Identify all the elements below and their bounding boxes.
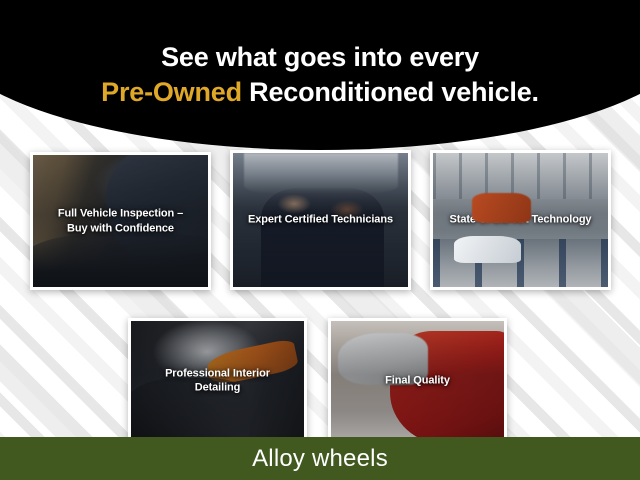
card-professional-interior-detailing[interactable]: Professional Interior Detailing	[128, 318, 307, 443]
card-final-quality[interactable]: Final Quality	[328, 318, 507, 443]
caption-line-1: Expert Certified Technicians	[238, 213, 403, 228]
headline-highlight-pre-owned: Pre-Owned	[101, 77, 242, 107]
headline-line-2: Pre-Owned Reconditioned vehicle.	[101, 77, 539, 108]
caption-line-2: Buy with Confidence	[38, 221, 203, 236]
ground-car-shape	[454, 236, 521, 263]
header-banner: See what goes into every Pre-Owned Recon…	[0, 0, 640, 150]
caption-line-2: Detailing	[136, 381, 299, 396]
card-full-vehicle-inspection[interactable]: Full Vehicle Inspection – Buy with Confi…	[30, 152, 211, 290]
card-caption-detailing: Professional Interior Detailing	[131, 366, 304, 395]
card-caption-final-quality: Final Quality	[331, 373, 504, 388]
card-state-of-the-art-technology[interactable]: State-of-the-Art Technology	[430, 150, 611, 290]
headline-line-1: See what goes into every	[161, 42, 479, 73]
footer-label: Alloy wheels	[252, 445, 388, 473]
caption-line-1: Full Vehicle Inspection –	[38, 206, 203, 221]
card-caption-inspection: Full Vehicle Inspection – Buy with Confi…	[33, 206, 208, 235]
header-text-block: See what goes into every Pre-Owned Recon…	[0, 0, 640, 150]
headline-rest: Reconditioned vehicle.	[242, 77, 539, 107]
caption-line-1: Final Quality	[336, 373, 499, 388]
card-caption-technicians: Expert Certified Technicians	[233, 213, 408, 228]
infographic-slide: See what goes into every Pre-Owned Recon…	[0, 0, 640, 480]
caption-line-1: Professional Interior	[136, 366, 299, 381]
lifted-car-shape	[472, 193, 532, 222]
card-expert-certified-technicians[interactable]: Expert Certified Technicians	[230, 150, 411, 290]
footer-banner: Alloy wheels	[0, 437, 640, 480]
